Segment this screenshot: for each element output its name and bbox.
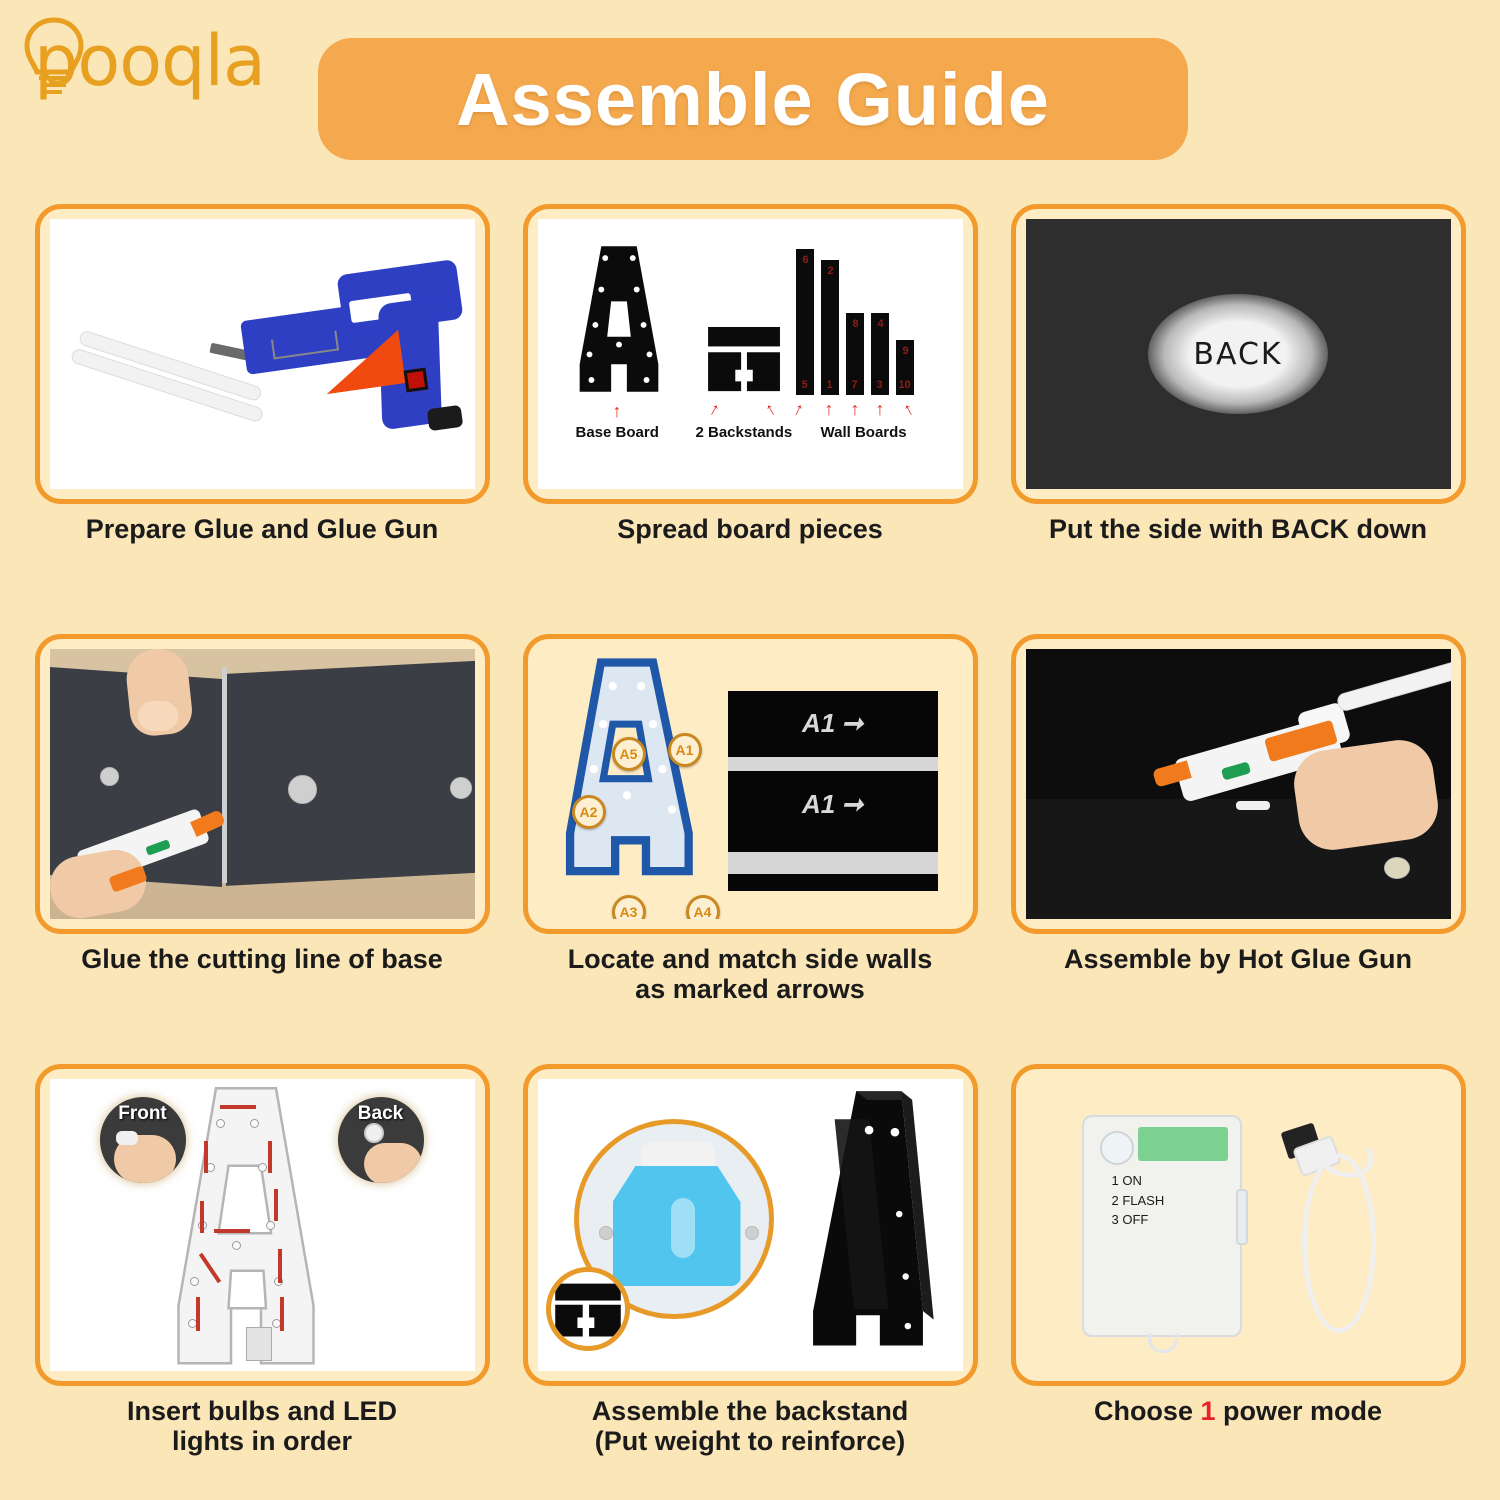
order-arrow-icon [268,1141,272,1173]
magnet-dot [100,767,119,786]
step-1-image-frame [35,204,490,504]
magnet-dot [745,1226,759,1240]
step-7-caption-line2: lights in order [127,1426,397,1456]
order-arrow-icon [214,1229,250,1233]
glue-gun-switch-icon [403,368,428,393]
step-card-5: A5 A1 A2 A3 A4 A1 ➞ A1 ➞ [506,634,994,1064]
battery-box-loop [1148,1333,1178,1353]
glue-stick-icon [1335,660,1450,713]
pointer-arrow-icon: ↑ [825,399,834,420]
battery-box-outline [246,1327,272,1361]
order-arrow-icon [204,1141,208,1173]
wall-board-number: 3 [877,379,883,391]
step-8-illustration [538,1079,963,1371]
bag-highlight [671,1198,695,1258]
bulb-socket-icon [364,1123,384,1143]
wall-marker-a2: A2 [572,795,606,829]
hand-inserting-bulb [364,1143,422,1183]
brand-logo: pooqla [18,14,265,106]
step-5-image-frame: A5 A1 A2 A3 A4 A1 ➞ A1 ➞ [523,634,978,934]
step-6-image-frame [1011,634,1466,934]
wall-marker-a5: A5 [612,737,646,771]
wall-board-number: 2 [828,265,834,277]
step-card-2: 6 2 8 4 9 5 1 7 3 10 ↑ ↑ ↑ ↑ ↑ ↑ ↑ ↑ [506,204,994,634]
step-1-illustration [50,219,475,489]
wall-board-number: 1 [827,379,833,391]
power-mode-off: 3 OFF [1112,1210,1165,1230]
right-arrow-icon: ➞ [841,789,863,820]
board-seam-line [222,667,227,883]
step-8-caption: Assemble the backstand (Put weight to re… [592,1396,909,1456]
bulb-hole [216,1119,225,1128]
pointer-arrow-icon: ↑ [705,398,723,421]
wall-board-number: 10 [899,379,911,391]
battery-box-latch [1236,1189,1248,1245]
wall-marker-a3: A3 [612,895,646,919]
wall-marker-a1: A1 [668,733,702,767]
wall-board-number: 9 [903,345,909,357]
a1-match-row: A1 ➞ [802,789,863,820]
a1-label: A1 [802,708,835,739]
step-2-caption: Spread board pieces [617,514,883,544]
wall-board-number: 5 [802,379,808,391]
step-9-illustration: 1 ON 2 FLASH 3 OFF [1026,1079,1451,1371]
backstands-label: 2 Backstands [696,424,793,441]
step-2-illustration: 6 2 8 4 9 5 1 7 3 10 ↑ ↑ ↑ ↑ ↑ ↑ ↑ ↑ [538,219,963,489]
step-3-image-frame: BACK [1011,204,1466,504]
bulb-hole [232,1241,241,1250]
pointer-arrow-icon: ↑ [851,399,860,420]
step-7-image-frame: Front Back [35,1064,490,1386]
pointer-arrow-icon: ↑ [789,398,806,421]
bulb-hole [190,1277,199,1286]
wall-board-number: 7 [852,379,858,391]
battery-box-switch-knob [1100,1131,1134,1165]
step-6-illustration [1026,649,1451,919]
a1-match-detail-photo: A1 ➞ A1 ➞ [728,691,938,891]
step-5-illustration: A5 A1 A2 A3 A4 A1 ➞ A1 ➞ [538,649,963,919]
step-9-image-frame: 1 ON 2 FLASH 3 OFF [1011,1064,1466,1386]
step-9-caption-highlight: 1 [1200,1396,1215,1426]
back-inset-photo: Back [338,1097,424,1183]
pointer-arrow-icon: ↑ [761,398,779,421]
finger-top [138,701,178,731]
battery-box-circuit [1138,1127,1228,1161]
order-arrow-icon [220,1105,256,1109]
power-mode-list: 1 ON 2 FLASH 3 OFF [1112,1171,1165,1230]
front-inset-photo: Front [100,1097,186,1183]
step-card-4: Glue the cutting line of base [18,634,506,1064]
step-4-illustration [50,649,475,919]
magnet-dot [288,775,317,804]
usb-cable-icon [1302,1153,1376,1333]
step-8-caption-line2: (Put weight to reinforce) [592,1426,909,1456]
power-mode-on: 1 ON [1112,1171,1165,1191]
step-8-image-frame [523,1064,978,1386]
step-9-caption: Choose 1 power mode [1094,1396,1382,1426]
bulb-hole [250,1119,259,1128]
board-bottom-strip [728,852,938,874]
wall-boards-label: Wall Boards [821,424,907,441]
magnet-dot [1384,857,1410,879]
base-board-label: Base Board [576,424,659,441]
back-label: Back [358,1103,403,1125]
wall-marker-a4: A4 [686,895,720,919]
power-mode-flash: 2 FLASH [1112,1191,1165,1211]
glue-bead [1236,801,1270,810]
base-board-letter-a-icon [560,245,678,395]
bulb-icon [116,1131,138,1145]
wall-board-icon [796,249,814,395]
step-7-caption-line1: Insert bulbs and LED [127,1396,397,1426]
title-banner: Assemble Guide [318,38,1188,160]
step-5-caption-line1: Locate and match side walls [568,944,933,974]
step-6-caption: Assemble by Hot Glue Gun [1064,944,1412,974]
pointer-arrow-icon: ↑ [613,401,622,422]
step-4-caption: Glue the cutting line of base [81,944,443,974]
order-arrow-icon [280,1297,284,1331]
pointer-arrow-icon: ↑ [899,398,917,421]
step-7-illustration: Front Back [50,1079,475,1371]
backstand-pieces-icon [706,327,784,395]
order-arrow-icon [196,1297,200,1331]
step-7-caption: Insert bulbs and LED lights in order [127,1396,397,1456]
step-2-image-frame: 6 2 8 4 9 5 1 7 3 10 ↑ ↑ ↑ ↑ ↑ ↑ ↑ ↑ [523,204,978,504]
wall-board-icon [821,260,839,395]
magnet-dot [599,1226,613,1240]
step-5-caption-line2: as marked arrows [568,974,933,1004]
a1-match-row: A1 ➞ [802,708,863,739]
step-3-caption: Put the side with BACK down [1049,514,1427,544]
page-header: pooqla Assemble Guide [0,0,1500,200]
board-edge-strip [728,757,938,771]
bulb-hole [266,1221,275,1230]
step-5-caption: Locate and match side walls as marked ar… [568,944,933,1004]
wall-board-number: 4 [878,318,884,330]
wall-board-number: 8 [853,318,859,330]
step-3-illustration: BACK [1026,219,1451,489]
steps-grid: Prepare Glue and Glue Gun [0,204,1500,1494]
order-arrow-icon [200,1201,204,1233]
backstand-piece-icon [551,1272,625,1346]
a1-label: A1 [802,789,835,820]
magnet-dot [450,777,472,799]
step-card-1: Prepare Glue and Glue Gun [18,204,506,634]
order-arrow-icon [278,1249,282,1283]
step-card-7: Front Back Insert bulbs and LED lights i… [18,1064,506,1494]
glue-gun-cable-icon [426,405,463,432]
step-4-image-frame [35,634,490,934]
bulb-hole [258,1163,267,1172]
base-board-right [226,660,475,886]
assembled-backstand-icon [778,1087,958,1367]
back-marking-glow: BACK [1148,294,1328,414]
step-card-6: Assemble by Hot Glue Gun [994,634,1482,1064]
step-1-caption: Prepare Glue and Glue Gun [86,514,439,544]
step-8-caption-line1: Assemble the backstand [592,1396,909,1426]
brand-name: pooqla [34,20,265,102]
front-label: Front [118,1103,167,1125]
right-arrow-icon: ➞ [841,708,863,739]
step-9-caption-prefix: Choose [1094,1396,1201,1426]
pointer-arrow-icon: ↑ [876,399,885,420]
step-9-caption-suffix: power mode [1216,1396,1383,1426]
wall-board-number: 6 [803,254,809,266]
step-card-8: Assemble the backstand (Put weight to re… [506,1064,994,1494]
step-card-9: 1 ON 2 FLASH 3 OFF Choose 1 power mode [994,1064,1482,1494]
order-arrow-icon [274,1189,278,1221]
backstand-piece-inset [546,1267,630,1351]
step-card-3: BACK Put the side with BACK down [994,204,1482,634]
page-title: Assemble Guide [456,57,1050,142]
back-label: BACK [1193,337,1282,372]
